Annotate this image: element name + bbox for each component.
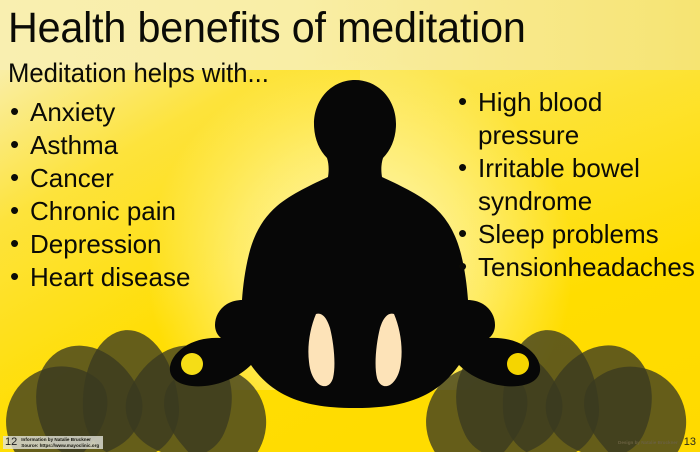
list-item-label: Sleep problems bbox=[478, 219, 659, 249]
list-item: Anxiety bbox=[10, 96, 190, 129]
list-item: High blood pressure bbox=[458, 86, 700, 152]
list-item-label: Anxiety bbox=[30, 97, 115, 127]
list-item-label: Heart disease bbox=[30, 262, 190, 292]
page-subtitle: Meditation helps with... bbox=[8, 57, 269, 89]
list-item-label: Tensionheadaches bbox=[478, 252, 695, 282]
list-item-label: Depression bbox=[30, 229, 162, 259]
benefits-list-right: High blood pressure Irritable bowel synd… bbox=[458, 86, 700, 284]
credit-line-2: Source: https://www.mayoclinic.org bbox=[21, 443, 99, 448]
list-item: Heart disease bbox=[10, 261, 190, 294]
list-item: Irritable bowel syndrome bbox=[458, 152, 700, 218]
list-item: Tensionheadaches bbox=[458, 251, 700, 284]
list-item: Sleep problems bbox=[458, 218, 700, 251]
list-item-label: Cancer bbox=[30, 163, 114, 193]
page-number-left: 12 bbox=[5, 437, 17, 448]
list-item-label: Chronic pain bbox=[30, 196, 176, 226]
design-credit: Design by Natalie Bruckner bbox=[618, 440, 678, 446]
slide-health-benefits-of-meditation: Health benefits of meditation Meditation… bbox=[0, 0, 700, 452]
benefits-list-left: Anxiety Asthma Cancer Chronic pain Depre… bbox=[10, 96, 190, 294]
list-item-label: Irritable bowel syndrome bbox=[478, 153, 640, 216]
list-item: Asthma bbox=[10, 129, 190, 162]
list-item: Cancer bbox=[10, 162, 190, 195]
list-item-label: Asthma bbox=[30, 130, 118, 160]
page-number-right: 13 bbox=[684, 437, 696, 448]
list-item-label: High blood pressure bbox=[478, 87, 602, 150]
list-item: Depression bbox=[10, 228, 190, 261]
footer-right: Design by Natalie Bruckner 13 bbox=[618, 437, 696, 448]
footer-left: 12 Information by Natalie Bruckner Sourc… bbox=[3, 436, 103, 449]
list-item: Chronic pain bbox=[10, 195, 190, 228]
source-credit: Information by Natalie Bruckner Source: … bbox=[21, 437, 99, 448]
page-title: Health benefits of meditation bbox=[8, 2, 526, 54]
